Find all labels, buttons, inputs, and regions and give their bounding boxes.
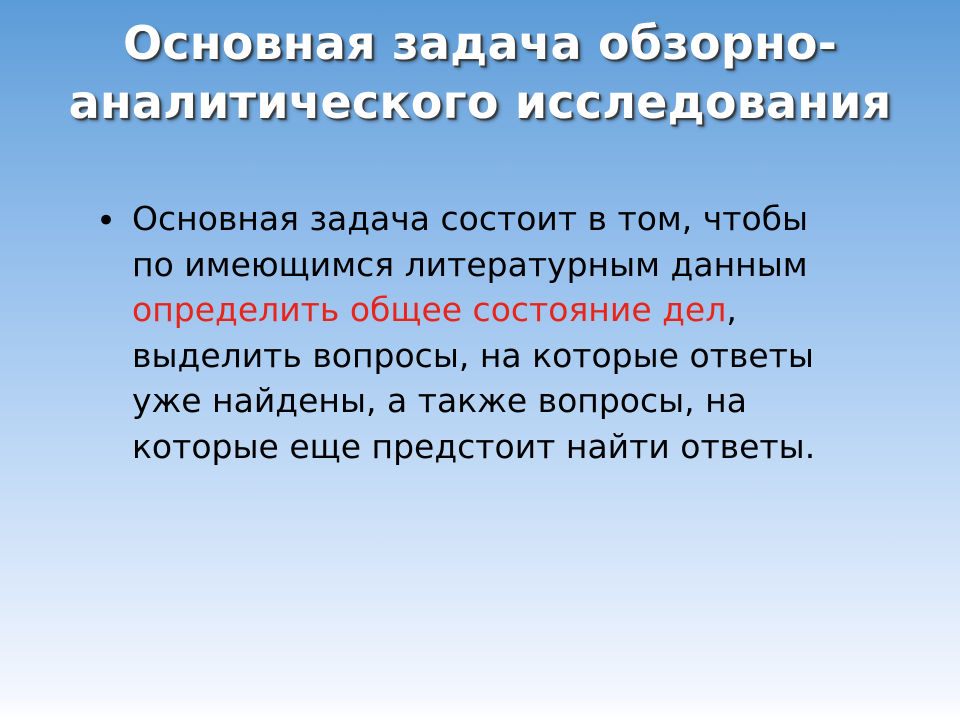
- bullet-list-item: • Основная задача состоит в том, чтобы п…: [96, 196, 886, 469]
- bullet-point-icon: •: [96, 196, 132, 238]
- bullet-item-text: Основная задача состоит в том, чтобы по …: [132, 196, 844, 469]
- slide-body: • Основная задача состоит в том, чтобы п…: [96, 196, 886, 469]
- slide-title: Основная задача обзорно-аналитического и…: [60, 14, 900, 132]
- presentation-slide: Основная задача обзорно-аналитического и…: [0, 0, 960, 720]
- body-text-highlight: определить общее состояние дел: [132, 290, 726, 329]
- body-text-part-one: Основная задача состоит в том, чтобы по …: [132, 199, 808, 284]
